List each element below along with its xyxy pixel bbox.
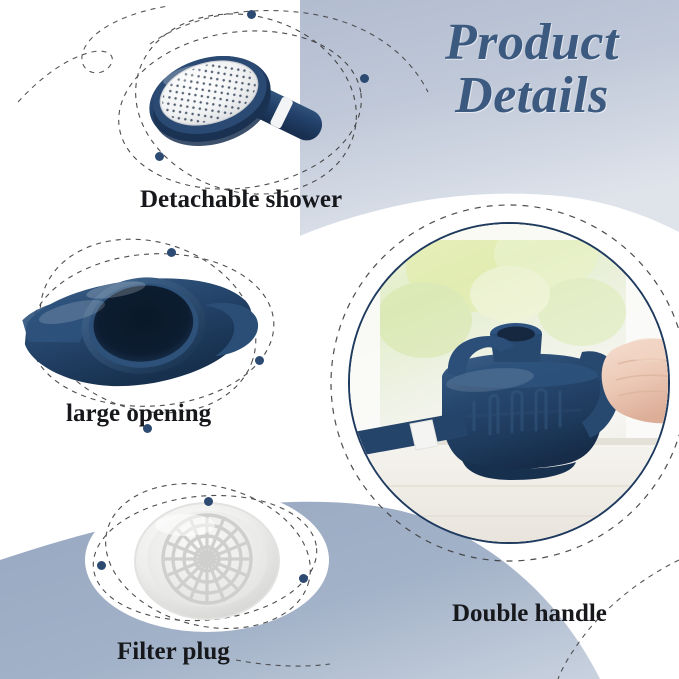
feature-label-large-opening: large opening — [66, 400, 211, 428]
infographic-canvas: Product Details — [0, 0, 679, 679]
feature-label-detachable-shower: Detachable shower — [140, 186, 342, 214]
main-photo-circle-frame — [348, 222, 670, 544]
plug-highlight — [155, 514, 215, 536]
title-line-details: Details — [398, 71, 666, 122]
page-title: Product Details — [398, 18, 666, 122]
title-line-product: Product — [398, 18, 666, 69]
feature-label-filter-plug: Filter plug — [117, 638, 230, 666]
callout-dot-filter-2 — [97, 561, 106, 570]
feature-label-double-handle: Double handle — [452, 600, 607, 628]
callout-dot-shower-1 — [247, 10, 256, 19]
callout-dot-shower-2 — [360, 74, 369, 83]
main-product-photo — [330, 200, 679, 580]
callout-dot-opening-2 — [255, 356, 264, 365]
callout-dot-opening-3 — [143, 424, 152, 433]
main-photo-scene — [350, 224, 670, 544]
callout-dot-filter-3 — [299, 574, 308, 583]
callout-dot-shower-3 — [155, 152, 164, 161]
callout-dot-opening-1 — [167, 248, 176, 257]
can-top-opening-illustration — [20, 250, 290, 410]
bottom-centre-arc — [236, 660, 330, 666]
shower-head-illustration — [120, 35, 360, 185]
filter-plug-illustration — [115, 495, 300, 625]
callout-dot-filter-1 — [204, 497, 213, 506]
